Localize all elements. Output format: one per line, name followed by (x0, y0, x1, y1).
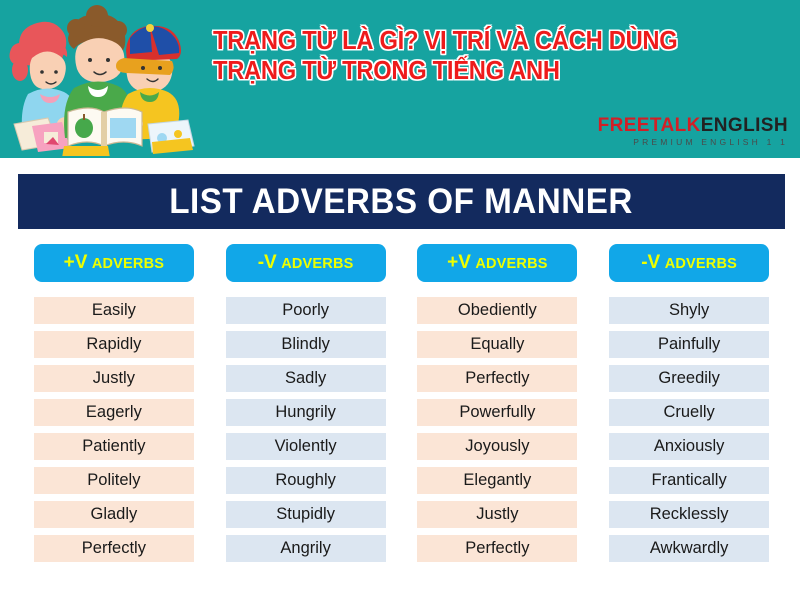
page-title-bar: LIST ADVERBS OF MANNER (18, 174, 785, 229)
children-reading-illustration (2, 2, 207, 156)
infographic-page: TRẠNG TỪ LÀ GÌ? VỊ TRÍ VÀ CÁCH DÙNG TRẠN… (0, 0, 800, 600)
column-header-2-sign: -V (258, 252, 277, 273)
banner-title-line-2: TRẠNG TỪ TRONG TIẾNG ANH (213, 56, 734, 86)
column-header-2-word: ADVERBS (281, 256, 353, 272)
adverb-cell: Rapidly (34, 331, 194, 358)
logo-tagline: PREMIUM ENGLISH 1 1 (598, 138, 788, 147)
page-title: LIST ADVERBS OF MANNER (170, 182, 634, 222)
adverb-column-4: -V ADVERBS Shyly Painfully Greedily Crue… (593, 244, 785, 569)
column-header-1-sign: +V (64, 252, 88, 273)
column-header-3-label: +V ADVERBS (447, 252, 548, 274)
adverb-cell: Justly (34, 365, 194, 392)
adverb-cell: Shyly (609, 297, 769, 324)
column-header-1-word: ADVERBS (92, 256, 164, 272)
adverb-cell: Patiently (34, 433, 194, 460)
logo-part-free: FREETALK (598, 115, 701, 136)
adverb-cell: Gladly (34, 501, 194, 528)
adverb-column-1: +V ADVERBS Easily Rapidly Justly Eagerly… (18, 244, 210, 569)
adverb-cell: Perfectly (417, 535, 577, 562)
adverb-cell: Frantically (609, 467, 769, 494)
adverb-cell: Violently (226, 433, 386, 460)
column-header-2[interactable]: -V ADVERBS (226, 244, 386, 282)
adverb-cell: Joyously (417, 433, 577, 460)
adverb-cell: Cruelly (609, 399, 769, 426)
column-header-4-label: -V ADVERBS (641, 252, 737, 274)
column-header-3-sign: +V (447, 252, 471, 273)
logo-part-english: ENGLISH (701, 115, 788, 136)
adverb-cell: Stupidly (226, 501, 386, 528)
adverb-cell: Angrily (226, 535, 386, 562)
column-header-4-word: ADVERBS (665, 256, 737, 272)
adverb-cell: Politely (34, 467, 194, 494)
header-banner: TRẠNG TỪ LÀ GÌ? VỊ TRÍ VÀ CÁCH DÙNG TRẠN… (0, 0, 800, 158)
column-header-1-label: +V ADVERBS (64, 252, 165, 274)
adverb-cell: Awkwardly (609, 535, 769, 562)
banner-title: TRẠNG TỪ LÀ GÌ? VỊ TRÍ VÀ CÁCH DÙNG TRẠN… (213, 26, 734, 86)
adverb-cell: Sadly (226, 365, 386, 392)
adverb-cell: Anxiously (609, 433, 769, 460)
adverb-cell: Justly (417, 501, 577, 528)
adverb-cell: Obediently (417, 297, 577, 324)
adverb-columns: +V ADVERBS Easily Rapidly Justly Eagerly… (18, 244, 785, 569)
brand-logo[interactable]: FREETALKENGLISH PREMIUM ENGLISH 1 1 (598, 116, 788, 147)
adverb-column-2: -V ADVERBS Poorly Blindly Sadly Hungrily… (210, 244, 402, 569)
adverb-cell: Equally (417, 331, 577, 358)
adverb-cell: Eagerly (34, 399, 194, 426)
adverb-cell: Elegantly (417, 467, 577, 494)
adverb-cell: Recklessly (609, 501, 769, 528)
adverb-cell: Hungrily (226, 399, 386, 426)
column-header-2-label: -V ADVERBS (258, 252, 354, 274)
column-header-3-word: ADVERBS (475, 256, 547, 272)
adverb-cell: Painfully (609, 331, 769, 358)
adverb-cell: Roughly (226, 467, 386, 494)
column-header-3[interactable]: +V ADVERBS (417, 244, 577, 282)
adverb-cell: Perfectly (417, 365, 577, 392)
adverb-cell: Blindly (226, 331, 386, 358)
column-header-4-sign: -V (641, 252, 660, 273)
adverb-cell: Greedily (609, 365, 769, 392)
adverb-column-3: +V ADVERBS Obediently Equally Perfectly … (402, 244, 594, 569)
column-header-1[interactable]: +V ADVERBS (34, 244, 194, 282)
adverb-cell: Powerfully (417, 399, 577, 426)
adverb-cell: Perfectly (34, 535, 194, 562)
column-header-4[interactable]: -V ADVERBS (609, 244, 769, 282)
adverb-cell: Poorly (226, 297, 386, 324)
logo-wordmark: FREETALKENGLISH (598, 116, 788, 135)
banner-title-line-1: TRẠNG TỪ LÀ GÌ? VỊ TRÍ VÀ CÁCH DÙNG (213, 26, 734, 56)
adverb-cell: Easily (34, 297, 194, 324)
